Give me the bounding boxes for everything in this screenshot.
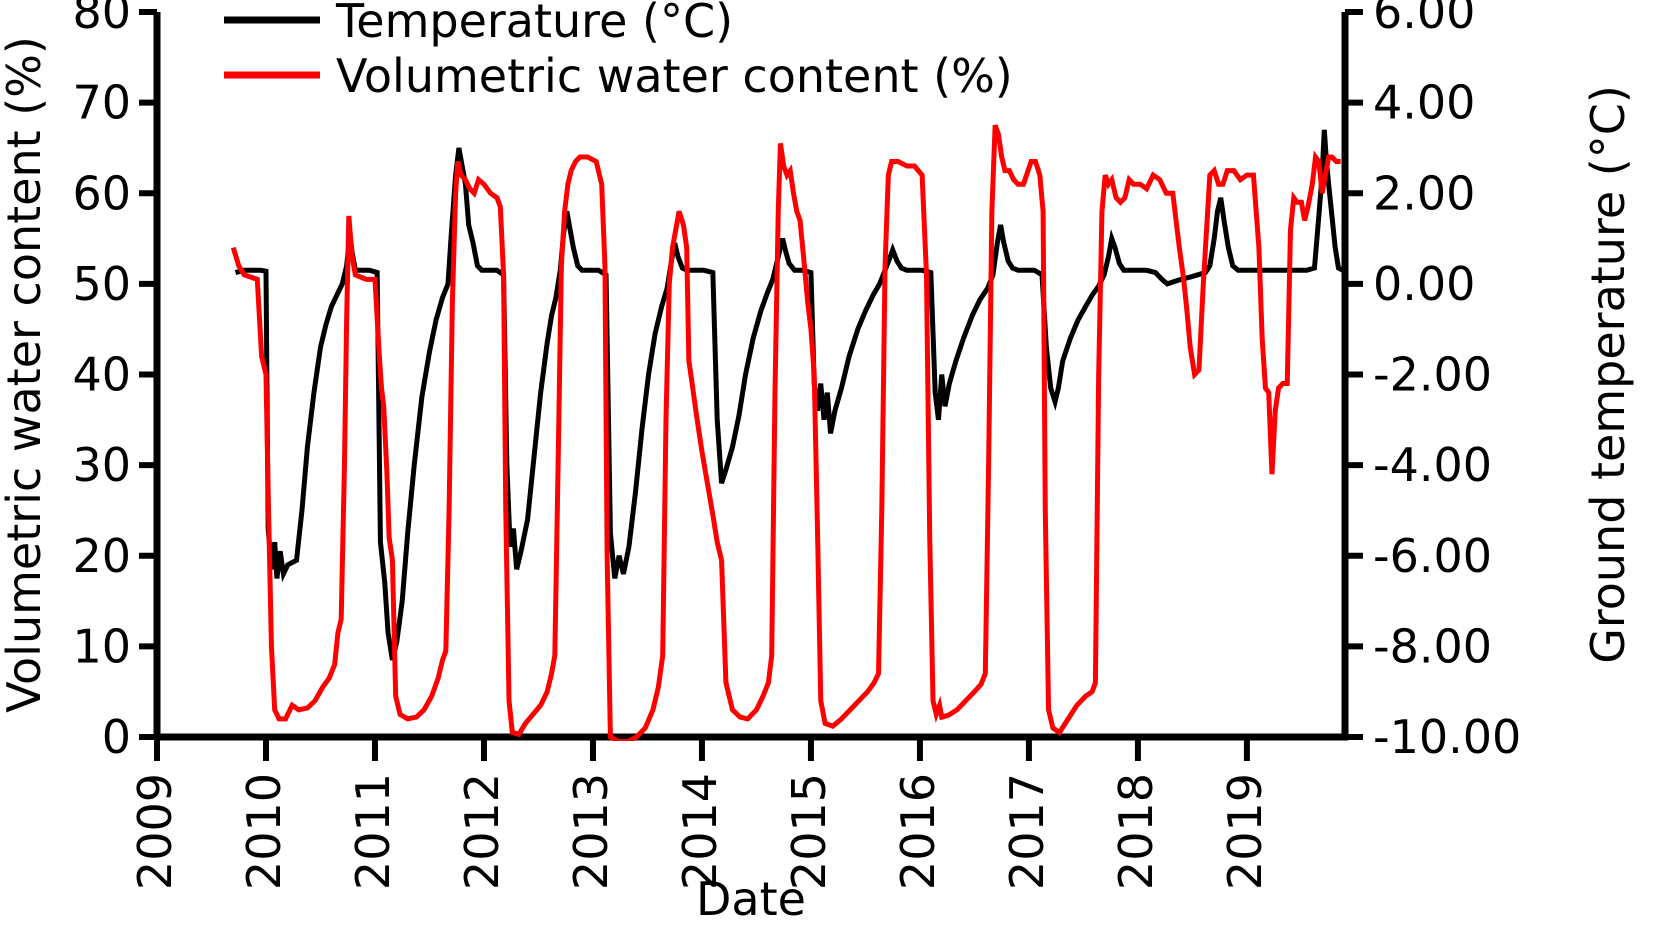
- x-tick-label: 2013: [564, 773, 618, 890]
- y2-tick-label: -6.00: [1373, 529, 1492, 583]
- chart-svg: 01020304050607080-10.00-8.00-6.00-4.00-2…: [0, 0, 1656, 952]
- y2-axis-title: Ground temperature (°C): [1581, 85, 1635, 664]
- x-axis-title: Date: [696, 872, 806, 926]
- y-tick-label: 0: [102, 710, 131, 764]
- y2-tick-label: -4.00: [1373, 438, 1492, 492]
- x-tick-label: 2016: [891, 773, 945, 890]
- x-tick-label: 2019: [1218, 773, 1272, 890]
- y-tick-label: 50: [72, 257, 131, 311]
- y-tick-label: 30: [72, 438, 131, 492]
- x-tick-label: 2012: [455, 773, 509, 890]
- y-tick-label: 80: [72, 0, 131, 39]
- legend-label-0: Temperature (°C): [335, 0, 733, 48]
- y2-tick-label: -8.00: [1373, 619, 1492, 673]
- legend-label-1: Volumetric water content (%): [336, 49, 1013, 103]
- x-tick-label: 2011: [346, 773, 400, 890]
- x-tick-label: 2017: [1000, 773, 1054, 890]
- y2-tick-label: 2.00: [1373, 166, 1475, 220]
- y-tick-label: 20: [72, 529, 131, 583]
- y-tick-label: 60: [72, 166, 131, 220]
- x-tick-label: 2018: [1109, 773, 1163, 890]
- y2-tick-label: -10.00: [1373, 710, 1521, 764]
- y2-tick-label: 0.00: [1373, 257, 1475, 311]
- y-tick-label: 10: [72, 619, 131, 673]
- x-tick-label: 2009: [128, 773, 182, 890]
- series-line-water-content: [233, 125, 1340, 741]
- y2-tick-label: 4.00: [1373, 76, 1475, 130]
- y2-tick-label: 6.00: [1373, 0, 1475, 39]
- y-tick-label: 70: [72, 76, 131, 130]
- y2-tick-label: -2.00: [1373, 348, 1492, 402]
- y-tick-label: 40: [72, 348, 131, 402]
- y-axis-title: Volumetric water content (%): [0, 36, 51, 713]
- chart-figure: 01020304050607080-10.00-8.00-6.00-4.00-2…: [0, 0, 1656, 952]
- x-tick-label: 2010: [237, 773, 291, 890]
